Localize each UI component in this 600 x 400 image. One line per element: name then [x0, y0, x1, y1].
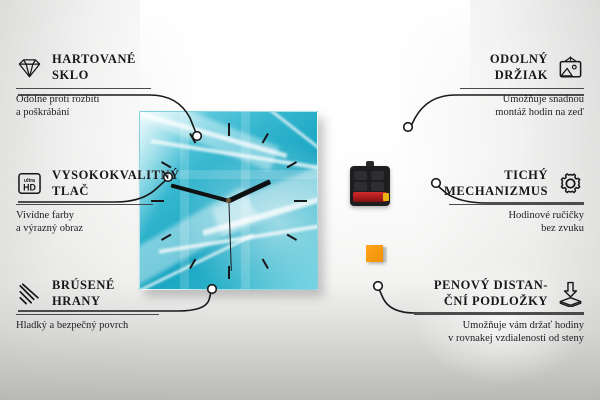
feature-head: HARTOVANÉSKLO	[16, 52, 151, 83]
feature-foam-spacers: PENOVÝ DISTAN-ČNÍ PODLOŽKY Umožňuje vám …	[414, 278, 584, 345]
feature-title: BRÚSENÉHRANY	[52, 278, 115, 309]
wire-node-right-3	[374, 282, 383, 291]
feature-divider	[449, 204, 584, 205]
feature-description: Umožňuje vám držať hodinyv rovnakej vzdi…	[414, 319, 584, 345]
feature-head: ODOLNÝDRŽIAK	[460, 52, 584, 83]
feature-title: ODOLNÝDRŽIAK	[490, 52, 548, 83]
feature-description: Vivídne farbya výrazný obraz	[16, 209, 153, 235]
feature-divider	[414, 314, 584, 315]
ultra-hd-icon: ultra HD	[16, 170, 43, 197]
svg-text:HD: HD	[23, 182, 36, 192]
wire-node-right-1	[404, 123, 413, 132]
feature-description: Hodinové ručičkybez zvuku	[449, 209, 584, 235]
feature-silent-mechanism: TICHÝMECHANIZMUS Hodinové ručičkybez zvu…	[449, 168, 584, 235]
wire-node-left-1	[193, 132, 202, 141]
polished-edges-icon	[16, 280, 43, 307]
diamond-icon	[16, 54, 43, 81]
infographic-canvas: HARTOVANÉSKLO Odolné proti rozbitía pošk…	[0, 0, 600, 400]
feature-description: Hladký a bezpečný povrch	[16, 319, 159, 332]
feature-title: HARTOVANÉSKLO	[52, 52, 136, 83]
feature-head: ultra HD VYSOKOKVALITNÝTLAČ	[16, 168, 153, 199]
feature-hardened-glass: HARTOVANÉSKLO Odolné proti rozbitía pošk…	[16, 52, 151, 119]
spacer-arrow-icon	[557, 280, 584, 307]
feature-divider	[16, 88, 151, 89]
gear-icon	[557, 170, 584, 197]
wire-node-right-2	[432, 179, 441, 188]
feature-high-quality-print: ultra HD VYSOKOKVALITNÝTLAČ Vivídne farb…	[16, 168, 153, 235]
feature-divider	[16, 314, 159, 315]
feature-durable-hanger: ODOLNÝDRŽIAK Umožňuje snadnoumontáž hodi…	[460, 52, 584, 119]
feature-description: Odolné proti rozbitía poškrábání	[16, 93, 151, 119]
feature-title: TICHÝMECHANIZMUS	[444, 168, 548, 199]
feature-head: BRÚSENÉHRANY	[16, 278, 159, 309]
wire-node-left-3	[208, 285, 217, 294]
feature-polished-edges: BRÚSENÉHRANY Hladký a bezpečný povrch	[16, 278, 159, 332]
feature-divider	[460, 88, 584, 89]
feature-head: TICHÝMECHANIZMUS	[449, 168, 584, 199]
feature-title: PENOVÝ DISTAN-ČNÍ PODLOŽKY	[434, 278, 548, 309]
feature-divider	[16, 204, 153, 205]
feature-title: VYSOKOKVALITNÝTLAČ	[52, 168, 180, 199]
feature-head: PENOVÝ DISTAN-ČNÍ PODLOŽKY	[414, 278, 584, 309]
feature-description: Umožňuje snadnoumontáž hodin na zeď	[460, 93, 584, 119]
picture-hanger-icon	[557, 54, 584, 81]
